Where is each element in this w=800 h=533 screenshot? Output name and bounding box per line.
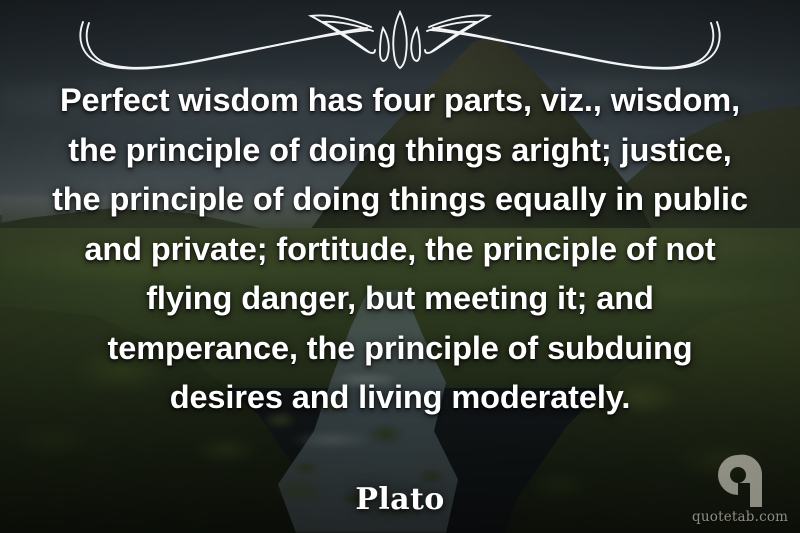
quote-card: Perfect wisdom has four parts, viz., wis… <box>0 0 800 533</box>
quote-author: Plato <box>0 482 800 517</box>
quote-text: Perfect wisdom has four parts, viz., wis… <box>50 76 750 423</box>
card-content: Perfect wisdom has four parts, viz., wis… <box>0 0 800 533</box>
watermark-site: quotetab.com <box>692 510 788 525</box>
flourish-ornament-icon <box>75 10 725 72</box>
watermark[interactable]: quotetab.com <box>692 453 788 525</box>
quotetab-q-logo-icon <box>712 453 768 509</box>
